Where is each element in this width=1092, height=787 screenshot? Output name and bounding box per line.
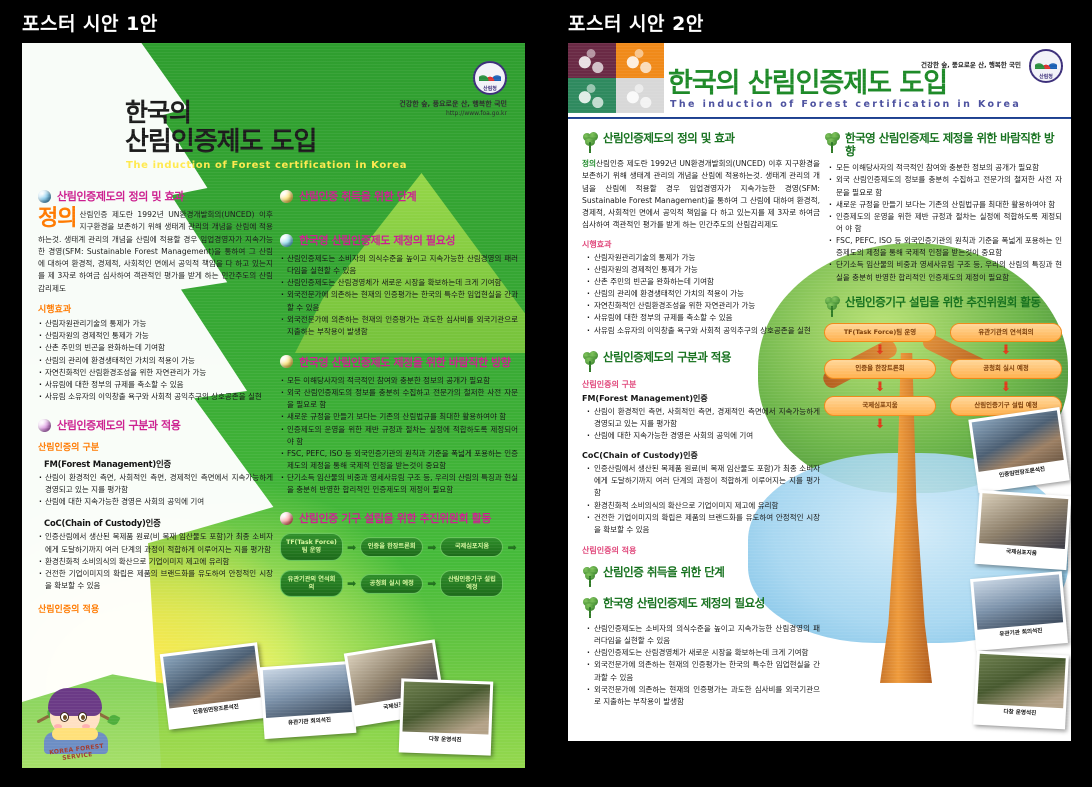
list-item: 건전한 기업이미지의 확립은 제품의 브랜드화를 유도하여 안정적인 시장을 확… xyxy=(587,512,820,536)
p2-coc-list: 인증산림에서 생산된 목제품 원료(비 목재 임산물도 포함)가 최종 소비자에… xyxy=(582,463,820,536)
committee-flowchart: TF(Task Force)팀 운영 ➡ 인증을 한장트론회 ➡ 국제심포지움 … xyxy=(280,533,518,597)
p2-effects-title: 시행효과 xyxy=(582,239,820,250)
flow-box[interactable]: 산림인증기구 설립 예정 xyxy=(440,570,503,598)
section-heading-necessity: 한국영 산림인증제도 제정의 필요성 xyxy=(280,232,518,248)
p2-definition-body: 산림인증 제도란 1992년 UN환경개발회의(UNCED) 이후 지구환경을 … xyxy=(582,159,820,229)
photo-card[interactable]: 인증임면장조론석진 xyxy=(968,407,1069,493)
arrow-down-icon: ⬇ xyxy=(824,381,936,394)
p2-section-heading-classification: 산림인증제도의 구분과 적용 xyxy=(582,351,820,372)
flow-box[interactable]: TF(Task Force)팀 운영 xyxy=(280,533,343,561)
list-item: 산촌 주민의 빈곤을 완화하는데 기여함 xyxy=(587,276,820,288)
steps-heading-label: 산림인증 취득을 위한 단계 xyxy=(299,188,416,204)
section-heading-steps: 산림인증 취득을 위한 단계 xyxy=(280,188,518,204)
flow-box[interactable]: 유관기관의 연석회의 xyxy=(280,570,343,598)
direction-heading-label: 한국영 산림인증제도 제정을 위한 바람직한 방향 xyxy=(299,354,511,370)
list-item: 자연친화적인 산림환경조성을 위한 자연관리가 가능 xyxy=(38,367,273,379)
definition-heading-label: 산림인증제도의 정의 및 효과 xyxy=(57,188,184,204)
list-item: 단기소득 임산물의 비중과 영세사유림 구조 등, 우리의 산림의 특징과 현실… xyxy=(829,259,1062,283)
header-divider xyxy=(568,117,1071,119)
mascot-scarf xyxy=(52,728,98,740)
list-item: 자연친화적인 산림환경조성을 위한 자연관리가 가능 xyxy=(587,300,820,312)
effects-list: 산림자원관리기술의 통제가 가능 산림자원의 경제적인 통제가 가능 산촌 주민… xyxy=(38,318,273,403)
flow-box[interactable]: TF(Task Force)팀 운영 xyxy=(824,323,936,343)
flow-box[interactable]: 인증을 한장트론회 xyxy=(824,359,936,379)
definition-marker: 정의 xyxy=(38,209,76,230)
list-item: 산림자원관리기술의 통제가 가능 xyxy=(38,318,273,330)
photo-card[interactable]: 유관기관 회의석진 xyxy=(970,571,1068,651)
definition-paragraph: 정의 산림인증 제도란 1992년 UN환경개발회의(UNCED) 이후 지구환… xyxy=(38,209,273,295)
arrow-right-icon: ➡ xyxy=(427,578,436,589)
flow-box[interactable]: 공청회 실시 예정 xyxy=(950,359,1062,379)
list-item: 사유림에 대한 정부의 규제를 축소할 수 있음 xyxy=(38,379,273,391)
list-item: 사유림 소유자의 이익창출 욕구와 사회적 공익추구의 상호공존을 실현 xyxy=(38,391,273,403)
poster1-right-column: 산림인증 취득을 위한 단계 한국영 산림인증제도 제정의 필요성 산림인증제도… xyxy=(280,179,518,606)
fm-list: 산림이 환경적인 측면, 사회적인 측면, 경제적인 측면에서 지속가능하게 경… xyxy=(38,472,273,508)
list-item: 모든 이해당사자의 적극적인 참여와 충분한 정보의 공개가 필요함 xyxy=(280,375,518,387)
poster1-slogan: 건강한 숲, 풍요로운 산, 행복한 국민 xyxy=(399,99,507,109)
list-item: 산림에 대한 지속가능한 경영은 사회의 공익에 기여 xyxy=(587,430,820,442)
poster2-subtitle-en: The induction of Forest certification in… xyxy=(670,99,1021,110)
p2-steps-heading-label: 산림인증 취득을 위한 단계 xyxy=(603,566,724,579)
flow-row-2: 유관기관의 연석회의 ➡ 공청회 실시 예정 ➡ 산림인증기구 설립 예정 xyxy=(280,570,518,598)
committee-heading-label: 산림인증 기구 설립을 위한 추진위원회 활동 xyxy=(299,510,491,526)
necessity-list: 산림인증제도는 소비자의 의식수준을 높이고 지속가능한 산림경영의 패러다임을… xyxy=(280,253,518,338)
list-item: 산림이 환경적인 측면, 사회적인 측면, 경제적인 측면에서 지속가능하게 경… xyxy=(587,406,820,430)
photo-image xyxy=(402,682,490,735)
poster-draft-2[interactable]: 한국의 산림인증제도 도입 The induction of Forest ce… xyxy=(568,43,1071,741)
panel-1-title: 포스터 시안 1안 xyxy=(22,9,158,36)
list-item: 산림자원의 경제적인 통제가 가능 xyxy=(587,264,820,276)
p2-section-heading-necessity: 한국영 산림인증제도 제정의 필요성 xyxy=(582,597,820,618)
p2-section-heading-steps: 산림인증 취득을 위한 단계 xyxy=(582,566,820,587)
flow-box[interactable]: 유관기관의 연석회의 xyxy=(950,323,1062,343)
mosaic-tile-maroon xyxy=(568,43,616,78)
section-heading-definition: 산림인증제도의 정의 및 효과 xyxy=(38,188,273,204)
poster2-body: 산림인증제도의 정의 및 효과 정의산림인증 제도란 1992년 UN환경개발회… xyxy=(568,123,1071,741)
p2-committee-heading-label: 산림인증기구 설립을 위한 추진위원회 활동 xyxy=(845,296,1040,309)
photo-mosaic-graphic xyxy=(568,43,664,113)
effects-title: 시행효과 xyxy=(38,302,273,315)
list-item: 산림인증제도는 산림경영체가 새로운 시장을 확보하는데 크게 기여함 xyxy=(587,647,820,659)
p2-definition-paragraph: 정의산림인증 제도란 1992년 UN환경개발회의(UNCED) 이후 지구환경… xyxy=(582,158,820,232)
p2-definition-heading-label: 산림인증제도의 정의 및 효과 xyxy=(603,132,734,145)
photo-card[interactable]: 유관기관 회의석진 xyxy=(260,661,357,739)
arrow-right-icon: ➡ xyxy=(427,542,436,553)
p2-definition-marker: 정의 xyxy=(582,159,596,168)
list-item: 외국전문가에 의존하는 현재의 인증평가는 과도한 심사비를 외국기관으로 지출… xyxy=(280,314,518,338)
p2-fm-list: 산림이 환경적인 측면, 사회적인 측면, 경제적인 측면에서 지속가능하게 경… xyxy=(582,406,820,442)
cyan-sphere-bullet-icon xyxy=(280,234,293,247)
fm-title: FM(Forest Management)인증 xyxy=(44,458,273,470)
list-item: 산촌 주민의 빈곤을 완화하는데 기여함 xyxy=(38,342,273,354)
list-item: 산림의 관리에 환경생태적인 가치의 적용이 가능 xyxy=(587,288,820,300)
arrow-right-icon: ➡ xyxy=(507,542,516,553)
p2-necessity-list: 산림인증제도는 소비자의 의식수준을 높이고 지속가능한 산림경영의 패러다임을… xyxy=(582,623,820,708)
list-item: FSC, PEFC, ISO 등 외국인증기관의 원칙과 기준을 폭넓게 포용하… xyxy=(829,235,1062,259)
classification-subtitle: 산림인증의 구분 xyxy=(38,440,273,453)
mascot-eye-left xyxy=(60,712,69,722)
photo-card[interactable]: 다창 운영석진 xyxy=(973,651,1069,730)
poster2-title: 한국의 산림인증제도 도입 xyxy=(668,61,947,100)
blue-sphere-bullet-icon xyxy=(38,190,51,203)
section-heading-classification: 산림인증제도의 구분과 적용 xyxy=(38,417,273,433)
list-item: 새로운 규정을 만들기 보다는 기존의 산림법규를 최대한 활용하여야 함 xyxy=(280,411,518,423)
arrow-down-icon: ⬇ xyxy=(950,381,1062,394)
tree-bullet-icon xyxy=(582,132,598,153)
poster1-title-line1: 한국의 xyxy=(125,99,316,128)
tree-bullet-icon xyxy=(824,132,840,153)
section-heading-direction: 한국영 산림인증제도 제정을 위한 바람직한 방향 xyxy=(280,354,518,370)
photo-card[interactable]: 국제심포지움 xyxy=(975,490,1071,570)
p2-section-heading-direction: 한국영 산림인증제도 제정을 위한 바람직한 방향 xyxy=(824,132,1062,157)
list-item: FSC, PEFC, ISO 등 외국인증기관의 원칙과 기준을 폭넓게 포용하… xyxy=(280,448,518,472)
p2-application-title: 산림인증의 적용 xyxy=(582,545,820,556)
poster1-url: http://www.foa.go.kr xyxy=(399,110,507,117)
arrow-down-icon: ⬇ xyxy=(950,344,1062,357)
p2-classification-heading-label: 산림인증제도의 구분과 적용 xyxy=(603,351,731,364)
flow-box[interactable]: 공청회 실시 예정 xyxy=(360,574,423,594)
list-item: 산림인증제도는 산림경영체가 새로운 시장을 확보하는데 크게 기여함 xyxy=(280,277,518,289)
list-item: 사유림에 대한 정부의 규제를 축소할 수 있음 xyxy=(587,312,820,324)
list-item: 산림인증제도는 소비자의 의식수준을 높이고 지속가능한 산림경영의 패러다임을… xyxy=(587,623,820,647)
poster2-right-column: 한국영 산림인증제도 제정을 위한 바람직한 방향 모든 이해당사자의 적극적인… xyxy=(824,123,1062,433)
tree-bullet-icon xyxy=(582,351,598,372)
photo-image xyxy=(972,410,1064,471)
mosaic-tile-green xyxy=(568,78,616,113)
list-item: 외국전문가에 의존하는 현재의 인증평가는 한국의 특수한 임업현실을 간과할 … xyxy=(280,289,518,313)
tree-bullet-icon xyxy=(824,296,840,317)
yellow-sphere-bullet-icon xyxy=(280,190,293,203)
mosaic-tile-gray xyxy=(616,78,664,113)
list-item: 산림의 관리에 환경생태적인 가치의 적용이 가능 xyxy=(38,355,273,367)
list-item: 외국전문가에 의존하는 현재의 인증평가는 과도한 심사비를 외국기관으로 지출… xyxy=(587,684,820,708)
list-item: 건전한 기업이미지의 확립은 제품의 브랜드화를 유도하여 안정적인 시장을 확… xyxy=(38,568,273,592)
photo-card[interactable]: 다창 운영석진 xyxy=(399,678,494,755)
forest-service-logo: 산림청 건강한 숲, 풍요로운 산, 행복한 국민 http://www.foa… xyxy=(399,61,507,117)
list-item: 환경친화적 소비의식의 확산으로 기업이미지 제고에 유리함 xyxy=(38,556,273,568)
poster1-title: 한국의 산림인증제도 도입 xyxy=(125,99,316,158)
emblem-label-2: 산림청 xyxy=(1031,73,1061,80)
direction-list: 모든 이해당사자의 적극적인 참여와 충분한 정보의 공개가 필요함 외국 산림… xyxy=(280,375,518,496)
p2-fm-title: FM(Forest Management)인증 xyxy=(582,393,820,404)
p2-section-heading-committee: 산림인증기구 설립을 위한 추진위원회 활동 xyxy=(824,296,1062,317)
p2-effects-list: 산림자원관리기술의 통제가 가능 산림자원의 경제적인 통제가 가능 산촌 주민… xyxy=(582,252,820,337)
photo-image xyxy=(977,654,1065,708)
poster-draft-1[interactable]: 한국의 산림인증제도 도입 The induction of Forest ce… xyxy=(22,43,525,768)
arrow-right-icon: ➡ xyxy=(347,542,356,553)
poster2-forest-service-logo: 산림청 xyxy=(1029,49,1063,83)
list-item: 모든 이해당사자의 적극적인 참여와 충분한 정보의 공개가 필요함 xyxy=(829,162,1062,174)
list-item: 인증제도의 운영을 위한 제반 규정과 절차는 실정에 적합하도록 제정되어 야… xyxy=(829,211,1062,235)
tree-bullet-icon xyxy=(582,566,598,587)
poster1-title-line2: 산림인증제도 도입 xyxy=(125,128,316,158)
photo-image xyxy=(973,574,1063,629)
photo-image xyxy=(263,664,352,718)
coc-list: 인증산림에서 생산된 목제품 원료(비 목재 임산물도 포함)가 최종 소비자에… xyxy=(38,531,273,592)
classification-heading-label: 산림인증제도의 구분과 적용 xyxy=(57,417,181,433)
list-item: 외국 산림인증제도의 정보를 충분히 수집하고 전문가의 철저한 사전 자문을 … xyxy=(280,387,518,411)
photo-image xyxy=(979,493,1068,549)
emblem-figures-2 xyxy=(1035,57,1057,69)
coc-title: CoC(Chain of Custody)인증 xyxy=(44,517,273,529)
p2-necessity-heading-label: 한국영 산림인증제도 제정의 필요성 xyxy=(603,597,765,610)
p2-coc-title: CoC(Chain of Custody)인증 xyxy=(582,450,820,461)
poster1-left-column: 산림인증제도의 정의 및 효과 정의 산림인증 제도란 1992년 UN환경개발… xyxy=(38,179,273,618)
arrow-down-icon: ⬇ xyxy=(824,344,936,357)
flow-box[interactable]: 인증을 한장트론회 xyxy=(360,537,423,557)
mascot-hair xyxy=(48,688,102,716)
arrow-right-icon: ➡ xyxy=(347,578,356,589)
section-heading-committee: 산림인증 기구 설립을 위한 추진위원회 활동 xyxy=(280,510,518,526)
list-item: 새로운 규정을 만들기 보다는 기존의 산림법규를 최대한 활용하여야 함 xyxy=(829,199,1062,211)
panel-2-title: 포스터 시안 2안 xyxy=(568,9,704,36)
poster2-header: 한국의 산림인증제도 도입 The induction of Forest ce… xyxy=(568,43,1071,121)
tree-bullet-icon xyxy=(582,597,598,618)
list-item: 외국전문가에 의존하는 현재의 인증평가는 한국의 특수한 임업현실을 간과할 … xyxy=(587,659,820,683)
necessity-heading-label: 한국영 산림인증제도 제정의 필요성 xyxy=(299,232,455,248)
list-item: 단기소득 임산물의 비중과 영세사유림 구조 등, 우리의 산림의 특징과 현실… xyxy=(280,472,518,496)
flow-box[interactable]: 국제심포지움 xyxy=(824,396,936,416)
forest-service-emblem-icon-2: 산림청 xyxy=(1029,49,1063,83)
poster1-header: 한국의 산림인증제도 도입 The induction of Forest ce… xyxy=(40,57,511,175)
list-item: 산림자원관리기술의 통제가 가능 xyxy=(587,252,820,264)
p2-direction-list: 모든 이해당사자의 적극적인 참여와 충분한 정보의 공개가 필요함 외국 산림… xyxy=(824,162,1062,283)
list-item: 인증산림에서 생산된 목제품 원료(비 목재 임산물도 포함)가 최종 소비자에… xyxy=(587,463,820,499)
flow-column-1: TF(Task Force)팀 운영 ⬇ 인증을 한장트론회 ⬇ 국제심포지움 … xyxy=(824,323,936,433)
emblem-figures xyxy=(479,69,501,81)
photo-card[interactable]: 인증임면장조론석진 xyxy=(160,642,267,729)
application-title: 산림인증의 적용 xyxy=(38,602,273,615)
p2-classification-subtitle: 산림인증의 구분 xyxy=(582,379,820,390)
forest-service-mascot: KOREA FOREST SERVICE xyxy=(38,680,114,758)
poster-comparison-stage: 포스터 시안 1안 포스터 시안 2안 한국의 산림인증제도 도입 The in… xyxy=(0,0,1092,787)
list-item: 산림이 환경적인 측면, 사회적인 측면, 경제적인 측면에서 지속가능하게 경… xyxy=(38,472,273,496)
list-item: 인증산림에서 생산된 목제품 원료(비 목재 임산물도 포함)가 최종 소비자에… xyxy=(38,531,273,555)
arrow-down-icon: ⬇ xyxy=(824,418,936,431)
mascot-eye-right xyxy=(78,712,87,722)
list-item: 사유림 소유자의 이익창출 욕구와 사회적 공익추구의 상호공존을 실현 xyxy=(587,325,820,337)
forest-service-emblem-icon: 산림청 xyxy=(473,61,507,95)
p2-direction-heading-label: 한국영 산림인증제도 제정을 위한 바람직한 방향 xyxy=(845,132,1062,157)
list-item: 산림자원의 경제적인 통제가 가능 xyxy=(38,330,273,342)
poster2-slogan: 건강한 숲, 풍요로운 산, 행복한 국민 xyxy=(921,59,1021,69)
p2-section-heading-definition: 산림인증제도의 정의 및 효과 xyxy=(582,132,820,153)
list-item: 외국 산림인증제도의 정보를 충분히 수집하고 전문가의 철저한 사전 자문을 … xyxy=(829,174,1062,198)
emblem-label: 산림청 xyxy=(475,85,505,92)
poster2-left-column: 산림인증제도의 정의 및 효과 정의산림인증 제도란 1992년 UN환경개발회… xyxy=(582,123,820,708)
list-item: 환경친화적 소비의식의 확산으로 기업이미지 제고에 유리함 xyxy=(587,500,820,512)
flow-row-1: TF(Task Force)팀 운영 ➡ 인증을 한장트론회 ➡ 국제심포지움 … xyxy=(280,533,518,561)
red-sphere-bullet-icon xyxy=(280,512,293,525)
yellow-sphere-bullet-icon-2 xyxy=(280,355,293,368)
list-item: 산림에 대한 지속가능한 경영은 사회의 공익에 기여 xyxy=(38,496,273,508)
flow-box[interactable]: 국제심포지움 xyxy=(440,537,503,557)
photo-caption: 다창 운영석진 xyxy=(402,733,488,744)
purple-sphere-bullet-icon xyxy=(38,419,51,432)
list-item: 인증제도의 운영을 위한 제반 규정과 절차는 실정에 적합하도록 제정되어 야… xyxy=(280,424,518,448)
poster1-subtitle-en: The induction of Forest certification in… xyxy=(126,160,407,171)
photo-image xyxy=(163,646,261,709)
mosaic-tile-orange xyxy=(616,43,664,78)
list-item: 산림인증제도는 소비자의 의식수준을 높이고 지속가능한 산림경영의 패러다임을… xyxy=(280,253,518,277)
